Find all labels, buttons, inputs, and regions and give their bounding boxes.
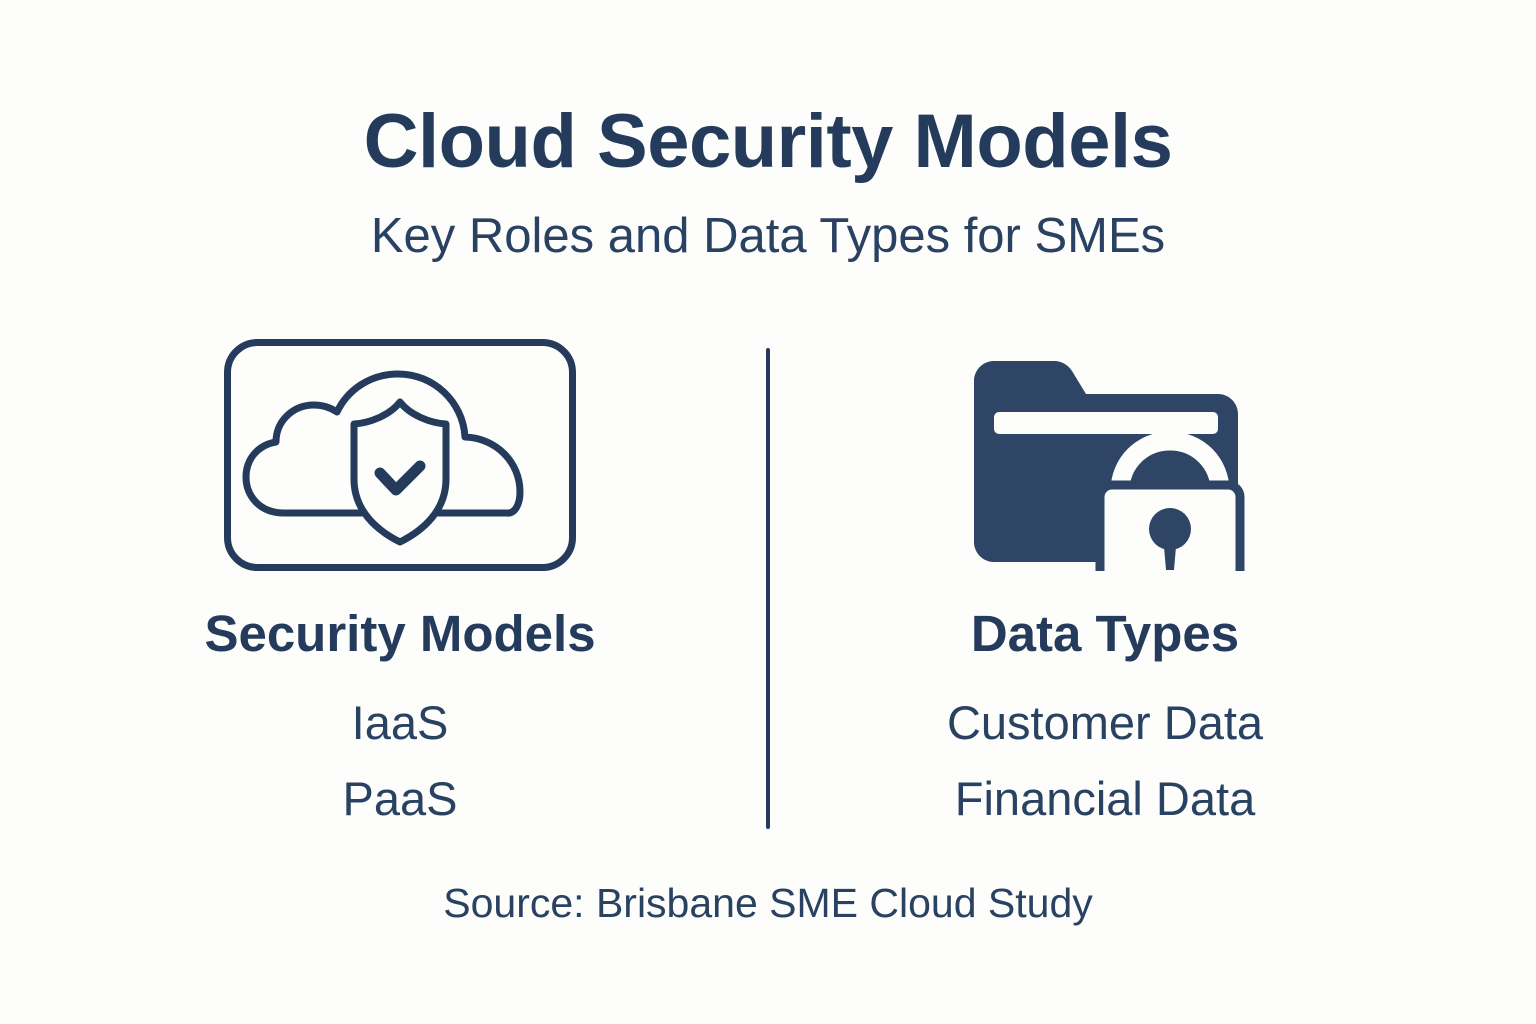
page-title: Cloud Security Models xyxy=(0,104,1536,180)
list-item: Customer Data xyxy=(795,685,1415,761)
cloud-shield-icon xyxy=(224,339,576,571)
columns-container: Security Models IaaS PaaS xyxy=(0,330,1536,850)
column-security-models: Security Models IaaS PaaS xyxy=(90,330,710,837)
cloud-shield-icon-slot xyxy=(90,330,710,580)
infographic-canvas: Cloud Security Models Key Roles and Data… xyxy=(0,0,1536,1024)
column-data-types: Data Types Customer Data Financial Data xyxy=(795,330,1415,837)
column-heading-data-types: Data Types xyxy=(795,580,1415,659)
folder-lock-icon-slot xyxy=(795,330,1415,580)
list-item: IaaS xyxy=(90,685,710,761)
item-list-security-models: IaaS PaaS xyxy=(90,659,710,837)
column-heading-security-models: Security Models xyxy=(90,580,710,659)
list-item: Financial Data xyxy=(795,761,1415,837)
folder-lock-icon xyxy=(950,339,1260,571)
source-caption: Source: Brisbane SME Cloud Study xyxy=(0,880,1536,927)
header: Cloud Security Models Key Roles and Data… xyxy=(0,104,1536,261)
list-item: PaaS xyxy=(90,761,710,837)
item-list-data-types: Customer Data Financial Data xyxy=(795,659,1415,837)
page-subtitle: Key Roles and Data Types for SMEs xyxy=(0,180,1536,261)
